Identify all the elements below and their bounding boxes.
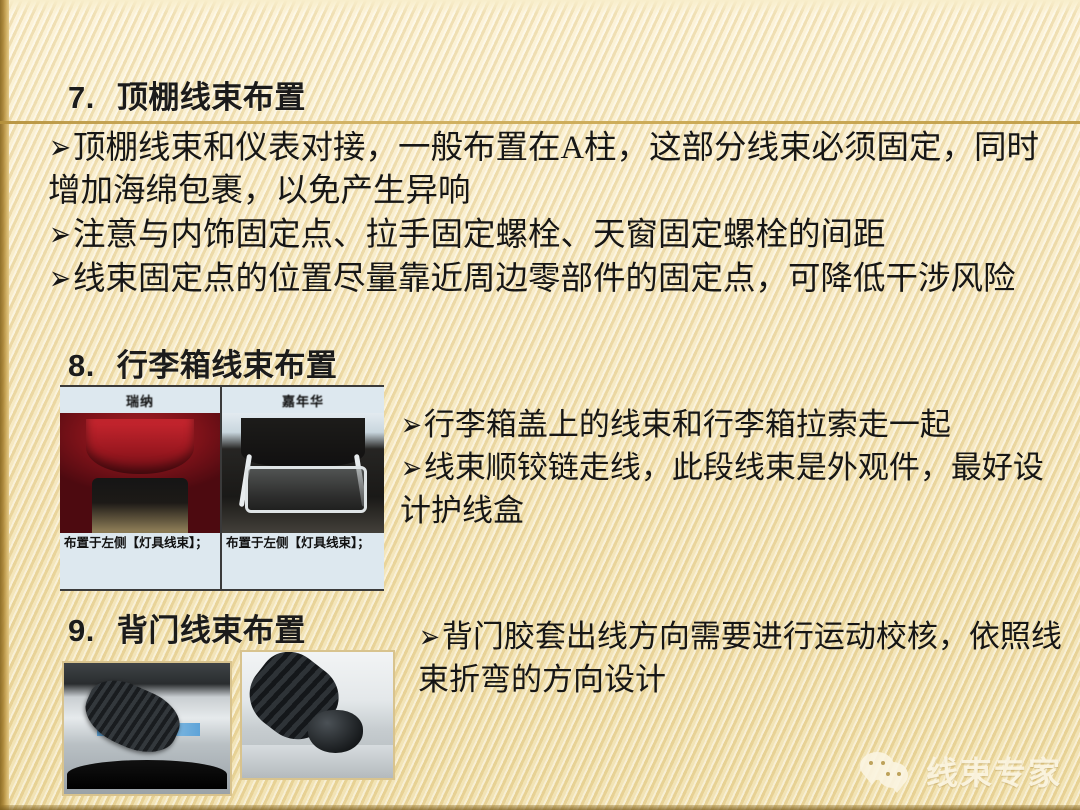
section-7-bullet-1-text: 顶棚线束和仪表对接，一般布置在A柱，这部分线束必须固定，同时增加海绵包裹，以免产… bbox=[48, 130, 1039, 209]
section-8-heading: 8.行李箱线束布置 bbox=[68, 340, 337, 385]
photo-white-hatchback-trunk bbox=[222, 413, 384, 533]
gold-divider-rule bbox=[0, 121, 1080, 124]
top-band-decoration bbox=[0, 0, 1080, 14]
comparison-column-left: 瑞纳 布置于左侧【灯具线束】； bbox=[60, 387, 222, 589]
rubber-boot-shape bbox=[76, 670, 188, 764]
wechat-eye-dot bbox=[897, 772, 901, 776]
photo-red-sedan-trunk bbox=[60, 413, 220, 533]
section-8-bullet-1: ➢行李箱盖上的线束和行李箱拉索走一起 bbox=[400, 404, 1068, 447]
section-7-bullet-3-text: 线束固定点的位置尽量靠近周边零部件的固定点，可降低干涉风险 bbox=[73, 261, 1016, 297]
bullet-arrow-icon: ➢ bbox=[401, 444, 422, 494]
comparison-caption-left: 布置于左侧【灯具线束】； bbox=[60, 533, 220, 589]
section-7-body: ➢顶棚线束和仪表对接，一般布置在A柱，这部分线束必须固定，同时增加海绵包裹，以免… bbox=[48, 126, 1058, 301]
slide-canvas: 7.顶棚线束布置 ➢顶棚线束和仪表对接，一般布置在A柱，这部分线束必须固定，同时… bbox=[0, 0, 1080, 810]
section-7-title: 顶棚线束布置 bbox=[117, 80, 306, 115]
bullet-arrow-icon: ➢ bbox=[49, 122, 71, 173]
bullet-arrow-icon: ➢ bbox=[49, 253, 71, 304]
bullet-arrow-icon: ➢ bbox=[419, 613, 440, 663]
section-8-bullet-2: ➢线束顺铰链走线，此段线束是外观件，最好设计护线盒 bbox=[400, 447, 1068, 532]
grommet-head-shape bbox=[308, 710, 362, 753]
section-8-bullet-2-text: 线束顺铰链走线，此段线束是外观件，最好设计护线盒 bbox=[400, 450, 1044, 528]
section-9-number: 9. bbox=[68, 613, 95, 648]
wechat-icon bbox=[860, 750, 914, 792]
section-8-number: 8. bbox=[68, 348, 95, 383]
section-7-heading: 7.顶棚线束布置 bbox=[68, 72, 306, 117]
comparison-caption-right: 布置于左侧【灯具线束】； bbox=[222, 533, 384, 589]
section-8-title: 行李箱线束布置 bbox=[117, 348, 338, 383]
photo-tailgate-grommet-1 bbox=[62, 661, 232, 796]
wechat-eye-dot bbox=[869, 761, 873, 765]
panel-shadow-shape bbox=[67, 760, 226, 789]
watermark-label: 线束专家 bbox=[926, 748, 1062, 794]
photo-strut-left bbox=[239, 454, 252, 507]
wechat-watermark: 线束专家 bbox=[860, 748, 1062, 794]
section-9-body: ➢背门胶套出线方向需要进行运动校核，依照线束折弯的方向设计 bbox=[418, 616, 1068, 701]
wechat-eye-dot bbox=[881, 761, 885, 765]
wechat-eye-dot bbox=[886, 772, 890, 776]
section-7-bullet-3: ➢线束固定点的位置尽量靠近周边零部件的固定点，可降低干涉风险 bbox=[48, 257, 1058, 301]
bottom-edge-stripe bbox=[0, 805, 1080, 810]
photo-tailgate-grommet-2 bbox=[240, 650, 395, 780]
section-9-bullet-1: ➢背门胶套出线方向需要进行运动校核，依照线束折弯的方向设计 bbox=[418, 616, 1068, 701]
trunk-comparison-table: 瑞纳 布置于左侧【灯具线束】； 嘉年华 布置于左侧【灯具线束】； bbox=[60, 385, 384, 591]
section-7-number: 7. bbox=[68, 80, 95, 115]
body-panel-shape bbox=[242, 745, 393, 778]
comparison-header-left: 瑞纳 bbox=[60, 387, 220, 413]
comparison-column-right: 嘉年华 布置于左侧【灯具线束】； bbox=[222, 387, 384, 589]
photo-sky-layer bbox=[60, 413, 220, 459]
comparison-header-right: 嘉年华 bbox=[222, 387, 384, 413]
photo-strut-right bbox=[354, 454, 367, 507]
grommet-illustration-b bbox=[242, 652, 393, 778]
section-9-bullet-1-text: 背门胶套出线方向需要进行运动校核，依照线束折弯的方向设计 bbox=[418, 619, 1062, 697]
section-7-bullet-2: ➢注意与内饰固定点、拉手固定螺栓、天窗固定螺栓的间距 bbox=[48, 213, 1058, 257]
section-7-bullet-2-text: 注意与内饰固定点、拉手固定螺栓、天窗固定螺栓的间距 bbox=[73, 217, 886, 253]
wechat-bubble-front bbox=[878, 762, 908, 788]
section-9-title: 背门线束布置 bbox=[117, 613, 306, 648]
section-7-bullet-1: ➢顶棚线束和仪表对接，一般布置在A柱，这部分线束必须固定，同时增加海绵包裹，以免… bbox=[48, 126, 1058, 213]
section-8-body: ➢行李箱盖上的线束和行李箱拉索走一起 ➢线束顺铰链走线，此段线束是外观件，最好设… bbox=[400, 404, 1068, 532]
grommet-illustration-a bbox=[64, 663, 230, 794]
section-8-bullet-1-text: 行李箱盖上的线束和行李箱拉索走一起 bbox=[424, 407, 951, 442]
section-9-heading: 9.背门线束布置 bbox=[68, 605, 306, 650]
